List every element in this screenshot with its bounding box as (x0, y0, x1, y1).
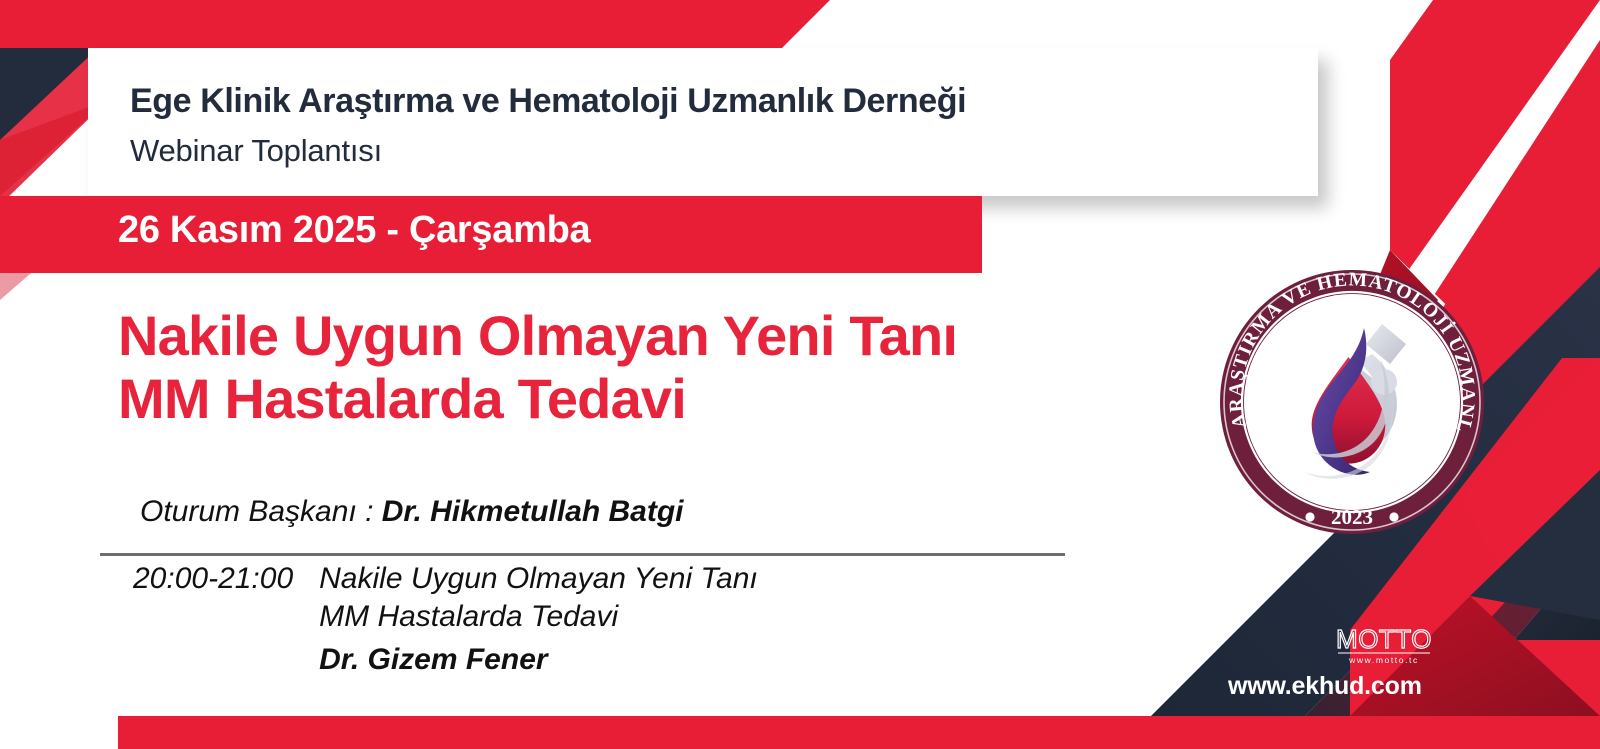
emblem-dot-left (1305, 512, 1314, 521)
motto-wordmark-text: MOTTO (1336, 624, 1432, 654)
program-divider (100, 553, 1065, 556)
emblem-year: 2023 (1331, 505, 1373, 529)
page-title: Nakile Uygun Olmayan Yeni Tanı MM Hastal… (118, 305, 957, 430)
emblem-dot-right (1389, 512, 1398, 521)
association-emblem: EGE KLİNİK ARAŞTIRMA VE HEMATOLOJİ UZMAN… (1212, 262, 1492, 542)
session-time: 20:00-21:00 (133, 560, 293, 596)
chair-label: Oturum Başkanı : (140, 495, 382, 528)
webinar-poster: Ege Klinik Araştırma ve Hematoloji Uzman… (0, 0, 1600, 749)
motto-url-text: www.motto.tc (1348, 655, 1419, 665)
association-name: Ege Klinik Araştırma ve Hematoloji Uzman… (130, 82, 966, 121)
chair-name: Dr. Hikmetullah Batgi (382, 495, 684, 528)
session-row: 20:00-21:00 Nakile Uygun Olmayan Yeni Ta… (133, 560, 758, 677)
header-plate (88, 48, 1318, 196)
motto-logo[interactable]: MOTTO www.motto.tc (1334, 624, 1434, 666)
session-speaker: Dr. Gizem Fener (319, 643, 758, 677)
session-title: Nakile Uygun Olmayan Yeni Tanı MM Hastal… (319, 560, 758, 637)
meeting-type-label: Webinar Toplantısı (130, 133, 382, 169)
website-url[interactable]: www.ekhud.com (1228, 672, 1422, 701)
session-body: Nakile Uygun Olmayan Yeni Tanı MM Hastal… (319, 560, 758, 677)
bottom-red-band (118, 716, 1600, 749)
event-date: 26 Kasım 2025 - Çarşamba (118, 209, 590, 252)
session-chair-row: Oturum Başkanı : Dr. Hikmetullah Batgi (140, 495, 684, 529)
top-red-band (0, 0, 830, 48)
